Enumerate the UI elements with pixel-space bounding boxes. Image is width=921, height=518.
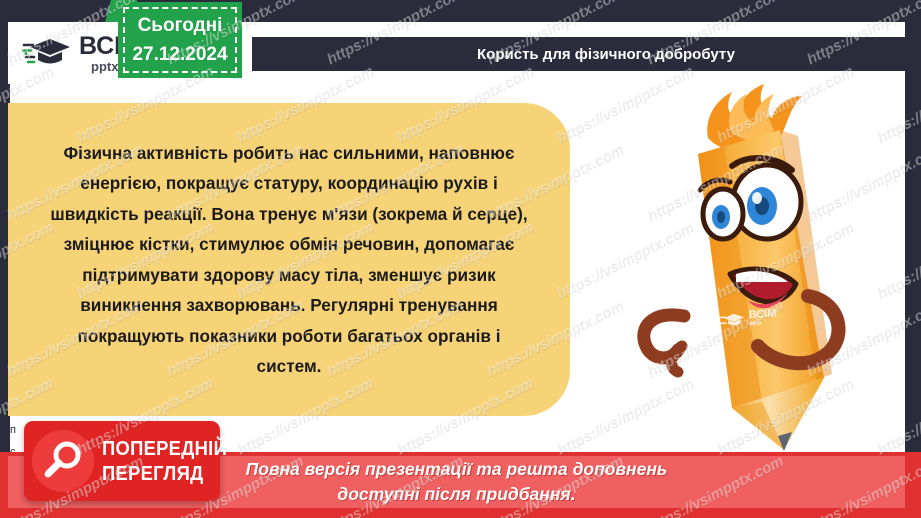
magnifier-icon <box>32 430 94 492</box>
date-badge-label: Сьогодні <box>138 11 223 40</box>
purchase-banner-line-2: доступні після придбання. <box>337 482 575 507</box>
header-bar: Користь для фізичного добробуту <box>252 37 905 71</box>
preview-badge-line-1: ПОПЕРЕДНІЙ <box>102 439 227 459</box>
preview-badge: ПОПЕРЕДНІЙ ПЕРЕГЛЯД <box>24 421 220 501</box>
mascot-watermark-logo: ВСІМ pptx <box>720 309 778 329</box>
date-badge-value: 27.12.2024 <box>132 40 227 69</box>
preview-badge-line-2: ПЕРЕГЛЯД <box>102 464 227 484</box>
page-title: Користь для фізичного добробуту <box>477 46 735 63</box>
content-card: Фізична активність робить нас сильними, … <box>8 103 570 416</box>
purchase-banner-line-1: Повна версія презентації та решта доповн… <box>246 457 668 482</box>
slide-canvas: п с ВСІМ pptx <box>0 0 921 518</box>
date-badge: Сьогодні 27.12.2024 <box>118 2 242 78</box>
content-body-text: Фізична активність робить нас сильними, … <box>39 138 539 382</box>
graduation-cap-icon <box>22 36 74 70</box>
pencil-character: ВСІМ pptx <box>612 78 912 453</box>
